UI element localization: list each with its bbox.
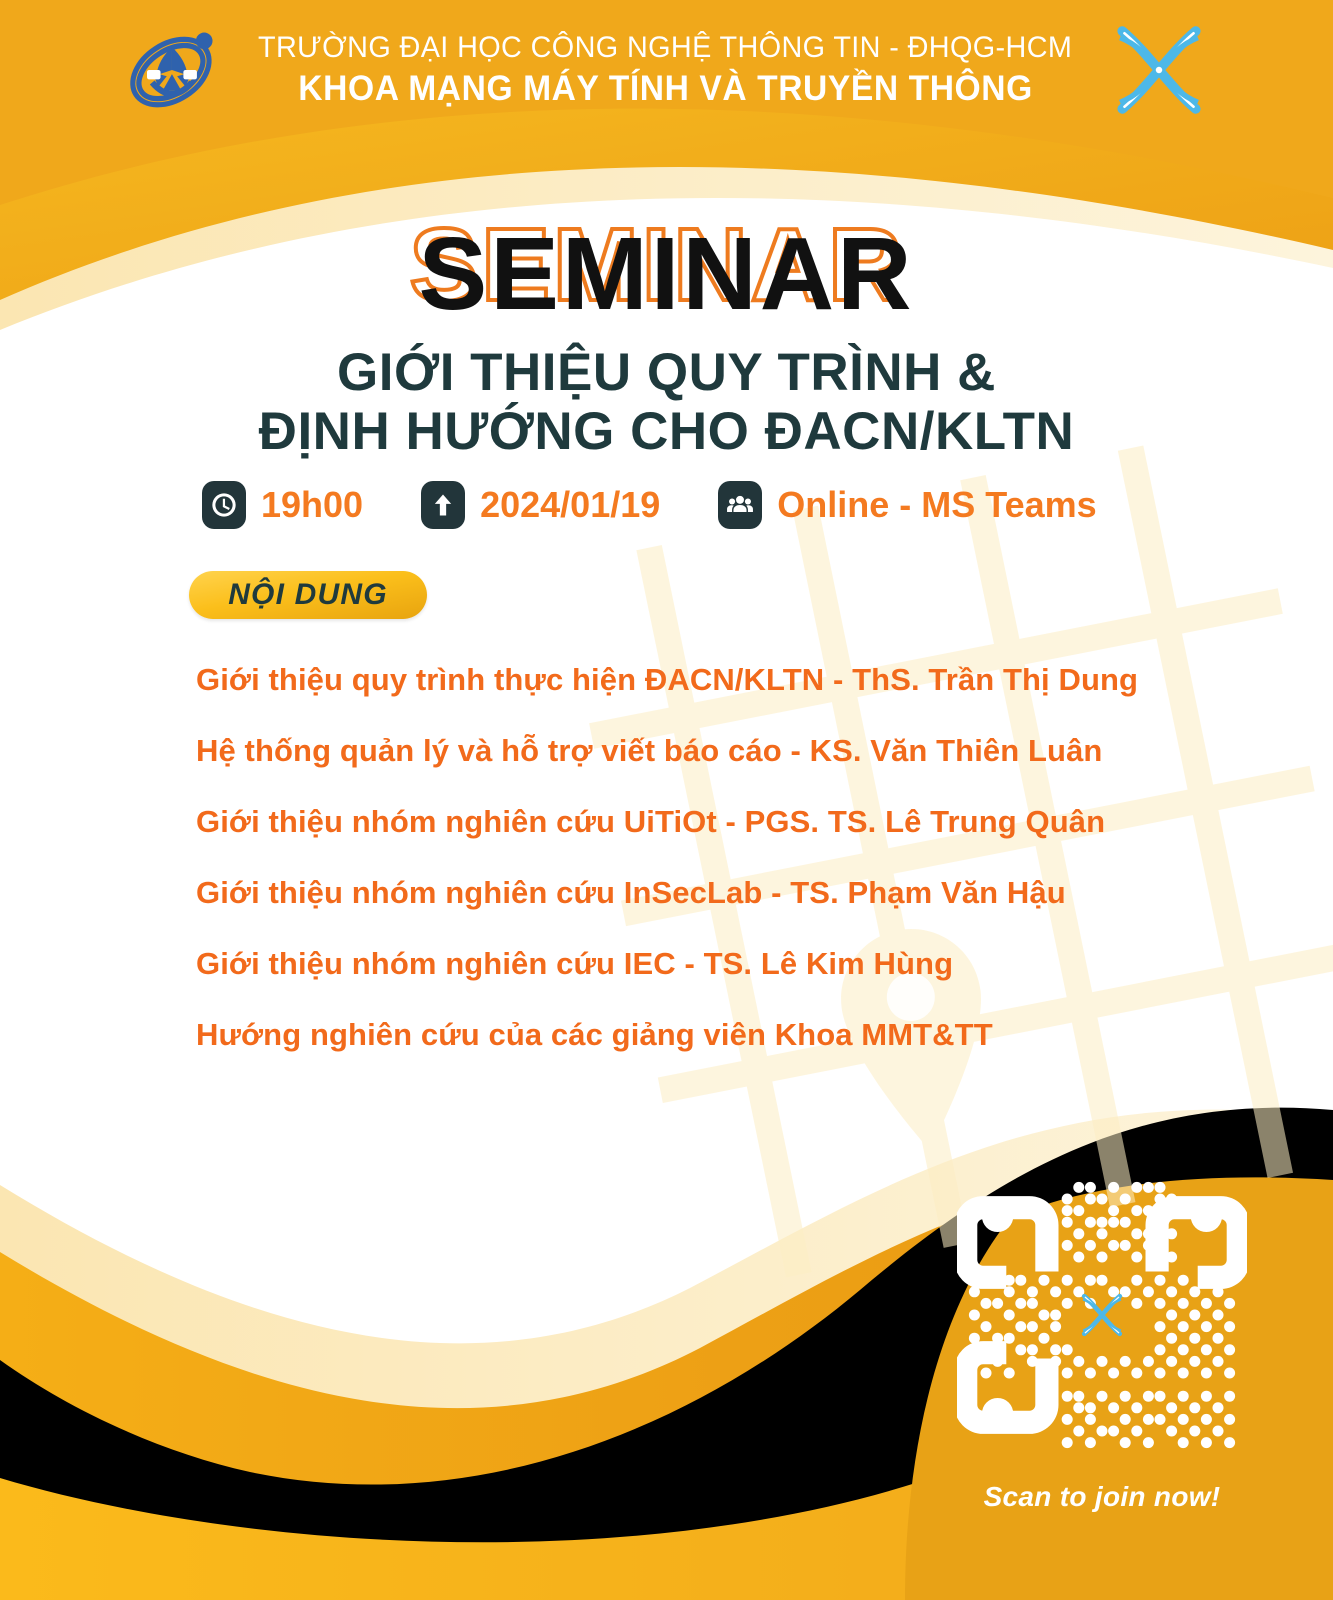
agenda-item: Giới thiệu nhóm nghiên cứu IEC - TS. Lê … [196, 944, 1196, 1015]
poster-header: TRƯỜNG ĐẠI HỌC CÔNG NGHỆ THÔNG TIN - ĐHQ… [0, 0, 1333, 140]
qr-code[interactable] [957, 1155, 1247, 1475]
meta-location-label: Online - MS Teams [777, 484, 1096, 526]
agenda-item: Hướng nghiên cứu của các giảng viên Khoa… [196, 1015, 1196, 1086]
agenda-item: Giới thiệu quy trình thực hiện ĐACN/KLTN… [196, 660, 1196, 731]
header-title-block: TRƯỜNG ĐẠI HỌC CÔNG NGHỆ THÔNG TIN - ĐHQ… [241, 31, 1089, 109]
mmt-x-logo [1083, 1296, 1121, 1334]
seminar-title-fill: SEMINAR [419, 216, 915, 331]
clock-icon [202, 481, 246, 529]
agenda-list: Giới thiệu quy trình thực hiện ĐACN/KLTN… [196, 660, 1196, 1086]
meta-item-time: 19h00 [202, 481, 363, 529]
event-meta-row: 19h00 2024/01/19 [202, 481, 1097, 529]
meta-item-location: Online - MS Teams [718, 481, 1096, 529]
meta-item-date: 2024/01/19 [421, 481, 660, 529]
subtitle-line-1: GIỚI THIỆU QUY TRÌNH & [0, 343, 1333, 402]
people-icon [718, 481, 762, 529]
seminar-subtitle: GIỚI THIỆU QUY TRÌNH & ĐỊNH HƯỚNG CHO ĐA… [0, 343, 1333, 462]
arrow-up-icon [421, 481, 465, 529]
agenda-item: Hệ thống quản lý và hỗ trợ viết báo cáo … [196, 731, 1196, 802]
uit-atom-logo [119, 18, 227, 122]
qr-block: Scan to join now! [957, 1155, 1247, 1513]
section-badge-label: NỘI DUNG [228, 578, 388, 612]
qr-caption: Scan to join now! [957, 1481, 1247, 1513]
university-name: TRƯỜNG ĐẠI HỌC CÔNG NGHỆ THÔNG TIN - ĐHQ… [258, 31, 1072, 65]
meta-time-label: 19h00 [261, 484, 363, 526]
meta-date-label: 2024/01/19 [480, 484, 660, 526]
mmt-x-logo [1104, 16, 1214, 124]
agenda-item: Giới thiệu nhóm nghiên cứu InSecLab - TS… [196, 873, 1196, 944]
agenda-item: Giới thiệu nhóm nghiên cứu UiTiOt - PGS.… [196, 802, 1196, 873]
faculty-name: KHOA MẠNG MÁY TÍNH VÀ TRUYỀN THÔNG [298, 69, 1033, 109]
seminar-title-wrap: SEMINAR SEMINAR [0, 222, 1333, 325]
section-badge-noi-dung: NỘI DUNG [189, 571, 427, 619]
subtitle-line-2: ĐỊNH HƯỚNG CHO ĐACN/KLTN [0, 402, 1333, 461]
seminar-title: SEMINAR SEMINAR [419, 222, 915, 325]
poster-content: SEMINAR SEMINAR GIỚI THIỆU QUY TRÌNH & Đ… [0, 0, 1333, 1600]
poster-canvas: TRƯỜNG ĐẠI HỌC CÔNG NGHỆ THÔNG TIN - ĐHQ… [0, 0, 1333, 1600]
